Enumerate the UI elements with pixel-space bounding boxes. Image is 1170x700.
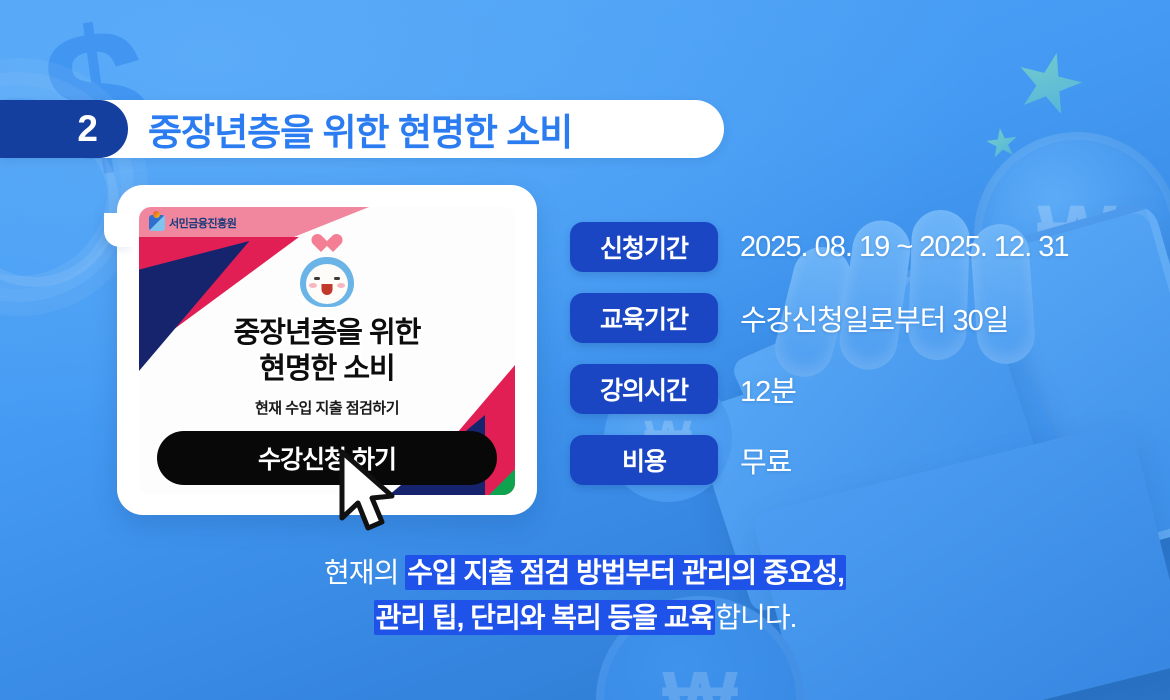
- agency-logo: 서민금융진흥원: [149, 215, 236, 231]
- info-row: 강의시간 12분: [570, 364, 1069, 414]
- info-row: 교육기간 수강신청일로부터 30일: [570, 293, 1069, 343]
- thumbnail-title: 중장년층을 위한 현명한 소비: [139, 315, 515, 388]
- description-line-1: 현재의 수입 지출 점검 방법부터 관리의 중요성,: [0, 550, 1170, 595]
- info-label-lecture-time: 강의시간: [570, 364, 718, 414]
- course-thumbnail: 서민금융진흥원 중장년층을 위한 현명한 소비 현재 수입 지출 점검하기 수강…: [139, 207, 515, 495]
- thumbnail-title-line1: 중장년층을 위한: [139, 315, 515, 351]
- enroll-button[interactable]: 수강신청 하기: [157, 431, 497, 485]
- info-value-lecture-time: 12분: [740, 368, 796, 410]
- mascot-cheek-left: [309, 283, 317, 288]
- section-number-badge: 2: [0, 100, 128, 158]
- card-corner-tail: [104, 213, 134, 247]
- info-value-education-period: 수강신청일로부터 30일: [740, 297, 1008, 339]
- mouse-cursor-icon: [334, 448, 400, 534]
- mascot-character-icon: [300, 235, 354, 307]
- section-banner: 2 중장년층을 위한 현명한 소비: [0, 100, 724, 158]
- description-plain-end: 합니다.: [715, 602, 796, 633]
- mascot-face: [306, 264, 348, 304]
- course-info-list: 신청기간 2025. 08. 19 ~ 2025. 12. 31 교육기간 수강…: [570, 222, 1069, 506]
- description-line-2: 관리 팁, 단리와 복리 등을 교육합니다.: [0, 595, 1170, 640]
- info-row: 신청기간 2025. 08. 19 ~ 2025. 12. 31: [570, 222, 1069, 272]
- description-highlight-2: 관리 팁, 단리와 복리 등을 교육: [374, 600, 716, 635]
- thumbnail-title-line2: 현명한 소비: [139, 351, 515, 387]
- course-description: 현재의 수입 지출 점검 방법부터 관리의 중요성, 관리 팁, 단리와 복리 …: [0, 550, 1170, 641]
- mascot-cheek-right: [337, 283, 345, 288]
- course-card[interactable]: 서민금융진흥원 중장년층을 위한 현명한 소비 현재 수입 지출 점검하기 수강…: [117, 185, 537, 515]
- thumbnail-subtitle: 현재 수입 지출 점검하기: [139, 397, 515, 418]
- agency-logo-icon: [149, 215, 165, 231]
- info-label-education-period: 교육기간: [570, 293, 718, 343]
- info-label-cost: 비용: [570, 435, 718, 485]
- star-icon: [1009, 45, 1089, 123]
- mascot-eye-left: [314, 277, 320, 280]
- description-plain-start: 현재의: [324, 557, 405, 588]
- info-value-apply-period: 2025. 08. 19 ~ 2025. 12. 31: [740, 231, 1069, 264]
- mascot-mouth: [322, 284, 333, 295]
- page-title: 중장년층을 위한 현명한 소비: [148, 102, 572, 156]
- info-row: 비용 무료: [570, 435, 1069, 485]
- heart-icon: [316, 235, 338, 255]
- mascot-eye-right: [334, 277, 340, 280]
- mascot-body: [300, 257, 354, 307]
- info-label-apply-period: 신청기간: [570, 222, 718, 272]
- agency-logo-label: 서민금융진흥원: [169, 215, 236, 231]
- description-highlight-1: 수입 지출 점검 방법부터 관리의 중요성,: [405, 555, 846, 590]
- info-value-cost: 무료: [740, 439, 791, 481]
